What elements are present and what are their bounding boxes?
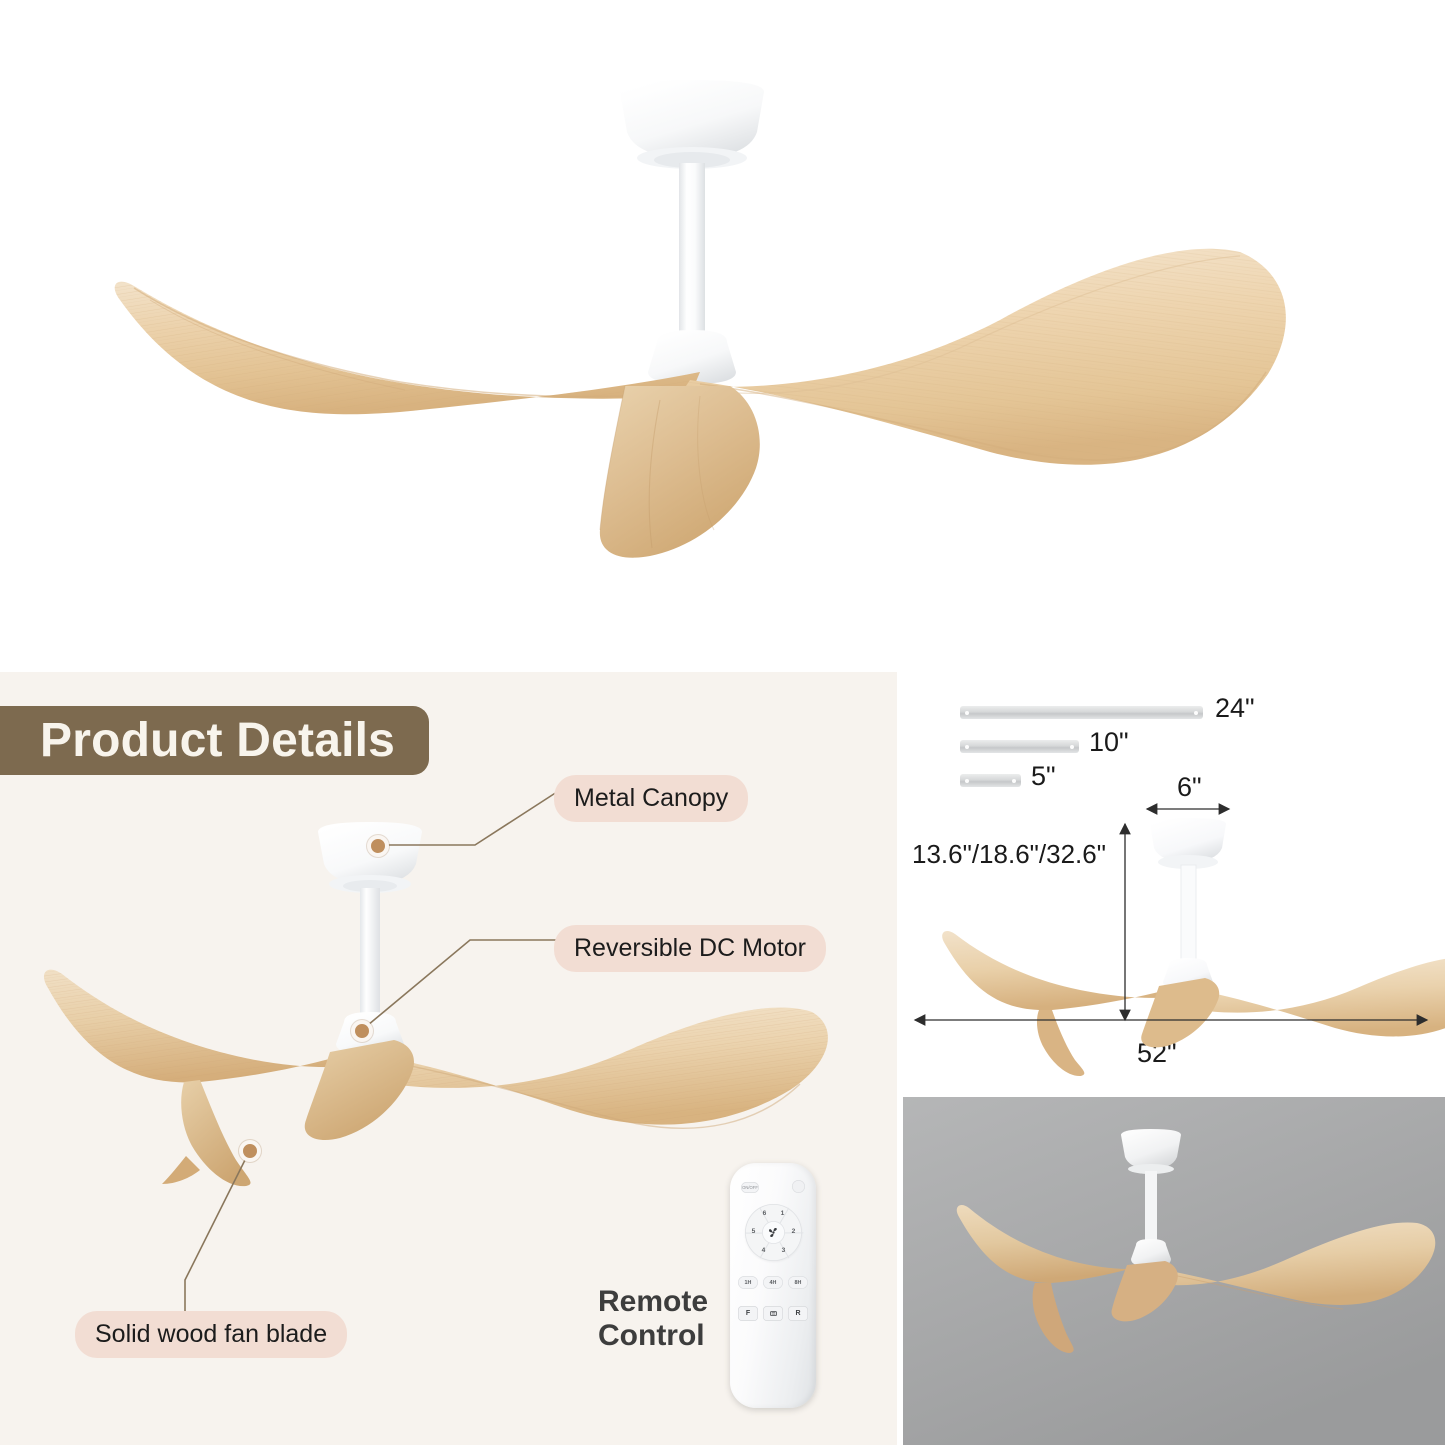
remote-speed-dial[interactable]: 1 2 3 4 5 6 (745, 1204, 802, 1261)
dimension-downrod (1181, 865, 1196, 963)
remote-control-caption: Remote Control (598, 1285, 708, 1353)
photo-downrod (1145, 1171, 1157, 1245)
dimension-blade-left (942, 931, 1189, 1076)
section-title-badge: Product Details (0, 706, 429, 775)
remote-timer-row: 1H 4H 8H (738, 1276, 808, 1289)
lifestyle-photo (903, 1097, 1445, 1445)
remote-speed-6[interactable]: 6 (760, 1210, 769, 1217)
remote-dial-center[interactable] (762, 1221, 785, 1244)
callout-label-metal-canopy: Metal Canopy (554, 775, 748, 822)
callout-label-solid-wood-fan-blade: Solid wood fan blade (75, 1311, 347, 1358)
remote-power-button[interactable]: ON/OFF (741, 1182, 759, 1193)
remote-speed-2[interactable]: 2 (789, 1228, 798, 1235)
remote-timer-8h[interactable]: 8H (788, 1276, 808, 1289)
remote-caption-line2: Control (598, 1319, 708, 1353)
remote-speed-5[interactable]: 5 (749, 1228, 758, 1235)
photo-canopy (1121, 1129, 1181, 1169)
hero-fan-illustration (0, 0, 1445, 660)
hero-product-image (0, 0, 1445, 660)
remote-body: ON/OFF 1 2 3 4 5 6 (730, 1163, 816, 1408)
remote-reverse-button[interactable]: R (788, 1306, 808, 1321)
callout-dot-blade (239, 1140, 261, 1162)
remote-speed-3[interactable]: 3 (779, 1247, 788, 1254)
remote-light-button[interactable] (763, 1306, 783, 1321)
hero-hub-fin (600, 386, 760, 558)
callout-dot-motor (351, 1020, 373, 1042)
hero-canopy (620, 80, 764, 158)
callout-dot-canopy (367, 835, 389, 857)
remote-timer-1h[interactable]: 1H (738, 1276, 758, 1289)
dimension-diagram (897, 672, 1445, 1097)
dimension-blade-right (1185, 957, 1445, 1037)
hero-blade-left (115, 282, 700, 415)
product-listing-image: Product Details Metal Canopy Reversible … (0, 0, 1445, 1445)
remote-timer-4h[interactable]: 4H (763, 1276, 783, 1289)
page-title: Product Details (40, 717, 395, 765)
lifestyle-fan-illustration (903, 1097, 1445, 1445)
dimension-hub-fin (1141, 978, 1219, 1047)
remote-forward-button[interactable]: F (738, 1306, 758, 1321)
dimensions-panel: 24" 10" 5" 6" 13.6"/18.6"/32.6" 52" (897, 672, 1445, 1097)
remote-led-indicator (792, 1180, 805, 1193)
fan-icon (767, 1226, 780, 1239)
details-blade-right (366, 1008, 828, 1129)
hero-blade-right (686, 249, 1286, 465)
details-hub-fin (305, 1040, 414, 1140)
details-downrod (360, 888, 380, 1020)
remote-control-image: ON/OFF 1 2 3 4 5 6 (730, 1163, 816, 1408)
remote-caption-line1: Remote (598, 1285, 708, 1319)
remote-speed-1[interactable]: 1 (778, 1210, 787, 1217)
remote-speed-4[interactable]: 4 (759, 1247, 768, 1254)
callout-label-reversible-dc-motor: Reversible DC Motor (554, 925, 826, 972)
remote-function-row: F R (738, 1306, 808, 1321)
hero-downrod (679, 163, 705, 338)
light-icon (769, 1309, 778, 1318)
